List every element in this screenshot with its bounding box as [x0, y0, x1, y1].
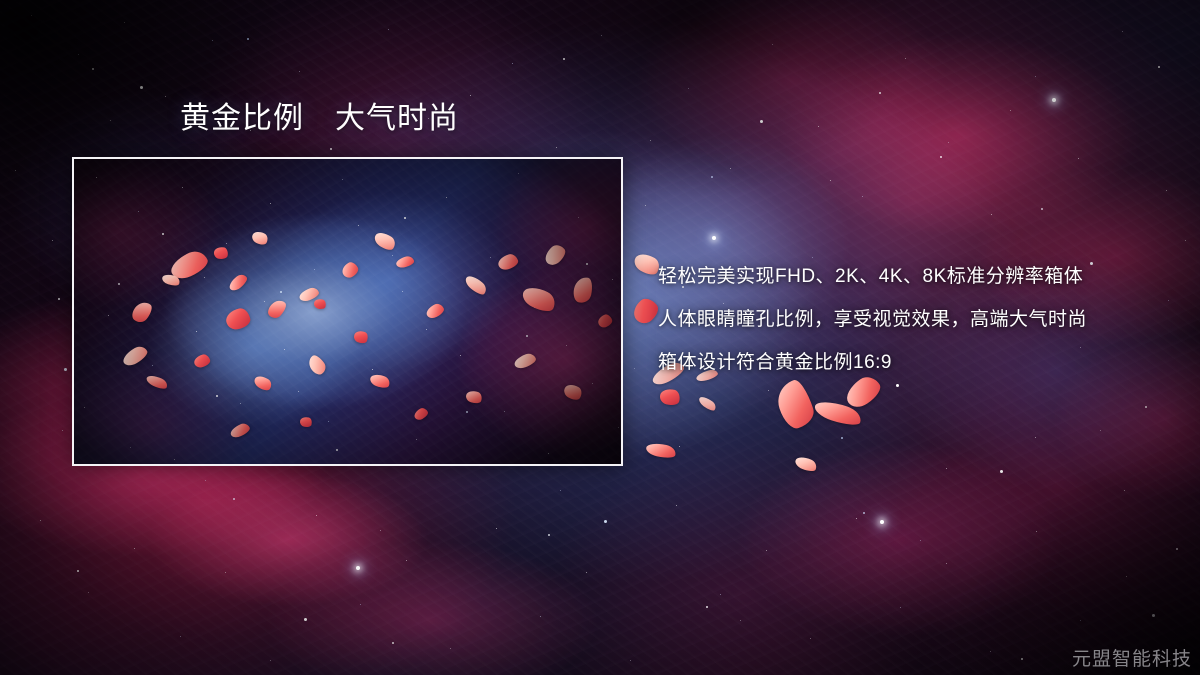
watermark: 元盟智能科技 — [1072, 644, 1192, 671]
page-title: 黄金比例 大气时尚 — [180, 101, 459, 137]
large-stars — [0, 0, 3, 3]
rose-petal — [794, 454, 819, 473]
copy-line-1: 轻松完美实现FHD、2K、4K、8K标准分辨率箱体 — [658, 255, 1158, 298]
rose-petal — [658, 387, 681, 407]
rose-petal — [697, 394, 718, 412]
photo-content — [74, 159, 621, 464]
bright-star-glow — [712, 236, 716, 240]
copy-line-3: 箱体设计符合黄金比例16:9 — [658, 341, 1158, 384]
rose-petal — [645, 441, 677, 460]
bright-star-glow — [1052, 98, 1056, 102]
framed-photo — [72, 157, 623, 466]
presentation-slide: 黄金比例 大气时尚 — [0, 0, 1200, 675]
bright-star-glow — [880, 520, 884, 524]
rose-petal — [773, 377, 818, 432]
copy-line-2: 人体眼睛瞳孔比例，享受视觉效果，高端大气时尚 — [658, 298, 1158, 341]
bright-star-glow — [356, 566, 360, 570]
body-copy: 轻松完美实现FHD、2K、4K、8K标准分辨率箱体 人体眼睛瞳孔比例，享受视觉效… — [658, 255, 1158, 384]
small-stars — [0, 0, 1, 1]
photo-vignette — [74, 159, 621, 464]
medium-stars — [0, 0, 2, 2]
